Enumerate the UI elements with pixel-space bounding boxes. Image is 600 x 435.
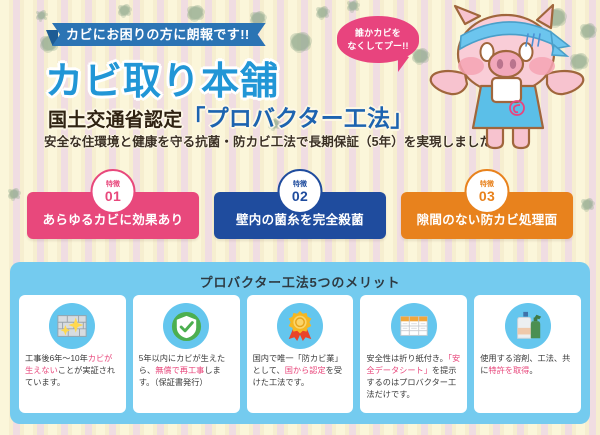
hero-ribbon: カビにお困りの方に朗報です!! [52, 23, 266, 46]
merits-heading: プロバクター工法5つのメリット [10, 262, 590, 291]
merit-text-highlight: 国から認定 [285, 366, 326, 375]
feature-badge-word: 特徴 [106, 181, 120, 188]
merit-text-2: 5年以内にカビが生えたら、無償で再工事します。（保証書発行） [139, 353, 234, 389]
merit-card-3[interactable]: 国内で唯一「防カビ業」として、国から認定を受けた工法です。 [247, 295, 354, 413]
merit-card-4[interactable]: 安全性は折り紙付き。「安全データシート」を提示するのはプロバクター工法だけです。 [360, 295, 467, 413]
spray-bottles-icon [505, 303, 551, 349]
mold-spot-icon [120, 6, 129, 15]
feature-card-01[interactable]: 特徴 01 あらゆるカビに効果あり [27, 192, 199, 239]
merit-card-list: 工事後6年〜10年カビが生えないことが実証されています。 5年以内にカビが生えた… [19, 295, 581, 413]
merit-text-pre: 安全性は折り紙付き。 [366, 354, 447, 363]
mold-spot-icon [38, 12, 45, 19]
merit-card-5[interactable]: 使用する溶剤、工法、共に特許を取得。 [474, 295, 581, 413]
promo-page: カビにお困りの方に朗報です!! カビ取り本舗 国土交通省認定「プロバクター工法」… [0, 0, 600, 435]
merit-text-pre: 工事後6年〜10年 [25, 354, 88, 363]
feature-badge-word: 特徴 [293, 181, 307, 188]
feature-card-02[interactable]: 特徴 02 壁内の菌糸を完全殺菌 [214, 192, 386, 239]
hero-subtitle: 国土交通省認定「プロバクター工法」 [48, 99, 414, 133]
feature-badge-number: 03 [479, 189, 495, 203]
page-title: カビ取り本舗 [45, 50, 279, 105]
mold-spot-icon [318, 8, 327, 17]
gold-medal-ribbon-icon [277, 303, 323, 349]
pig-mascot-icon [425, 2, 595, 162]
mascot-speech-line2: なくしてプー!! [337, 40, 419, 53]
merit-text-3: 国内で唯一「防カビ業」として、国から認定を受けた工法です。 [253, 353, 348, 389]
feature-badge-word: 特徴 [480, 181, 494, 188]
mold-spot-icon [189, 7, 202, 19]
feature-badge-02: 特徴 02 [278, 169, 323, 214]
speech-bubble-tail [398, 53, 409, 72]
mold-spot-icon [349, 2, 357, 10]
mascot-speech-line1: 誰かカビを [337, 27, 419, 40]
feature-badge-number: 01 [105, 189, 121, 203]
merit-text-4: 安全性は折り紙付き。「安全データシート」を提示するのはプロバクター工法だけです。 [366, 353, 461, 401]
mold-spot-icon [252, 13, 264, 24]
merit-card-2[interactable]: 5年以内にカビが生えたら、無償で再工事します。（保証書発行） [133, 295, 240, 413]
merit-text-post: 。 [529, 366, 537, 375]
mold-spot-icon [292, 34, 309, 50]
feature-badge-number: 02 [292, 189, 308, 203]
hero-subtitle-dark: 国土交通省認定 [48, 110, 182, 131]
merits-panel: プロバクター工法5つのメリット [10, 262, 590, 424]
feature-card-03[interactable]: 特徴 03 隙間のない防カビ処理面 [401, 192, 573, 239]
feature-badge-03: 特徴 03 [465, 169, 510, 214]
merit-card-1[interactable]: 工事後6年〜10年カビが生えないことが実証されています。 [19, 295, 126, 413]
green-shield-check-icon [163, 303, 209, 349]
merit-text-highlight: 無償で再工事 [155, 366, 204, 375]
mascot-speech-text: 誰かカビを なくしてプー!! [337, 27, 419, 53]
feature-badge-01: 特徴 01 [91, 169, 136, 214]
merit-text-highlight: 特許を取得 [488, 366, 529, 375]
feature-card-list: 特徴 01 あらゆるカビに効果あり 特徴 02 壁内の菌糸を完全殺菌 特徴 03… [0, 168, 600, 248]
document-table-icon [391, 303, 437, 349]
hero-subtitle-blue: 「プロバクター工法」 [182, 105, 413, 131]
merit-text-5: 使用する溶剤、工法、共に特許を取得。 [480, 353, 575, 377]
merit-text-1: 工事後6年〜10年カビが生えないことが実証されています。 [25, 353, 120, 389]
brick-wall-sparkle-icon [49, 303, 95, 349]
